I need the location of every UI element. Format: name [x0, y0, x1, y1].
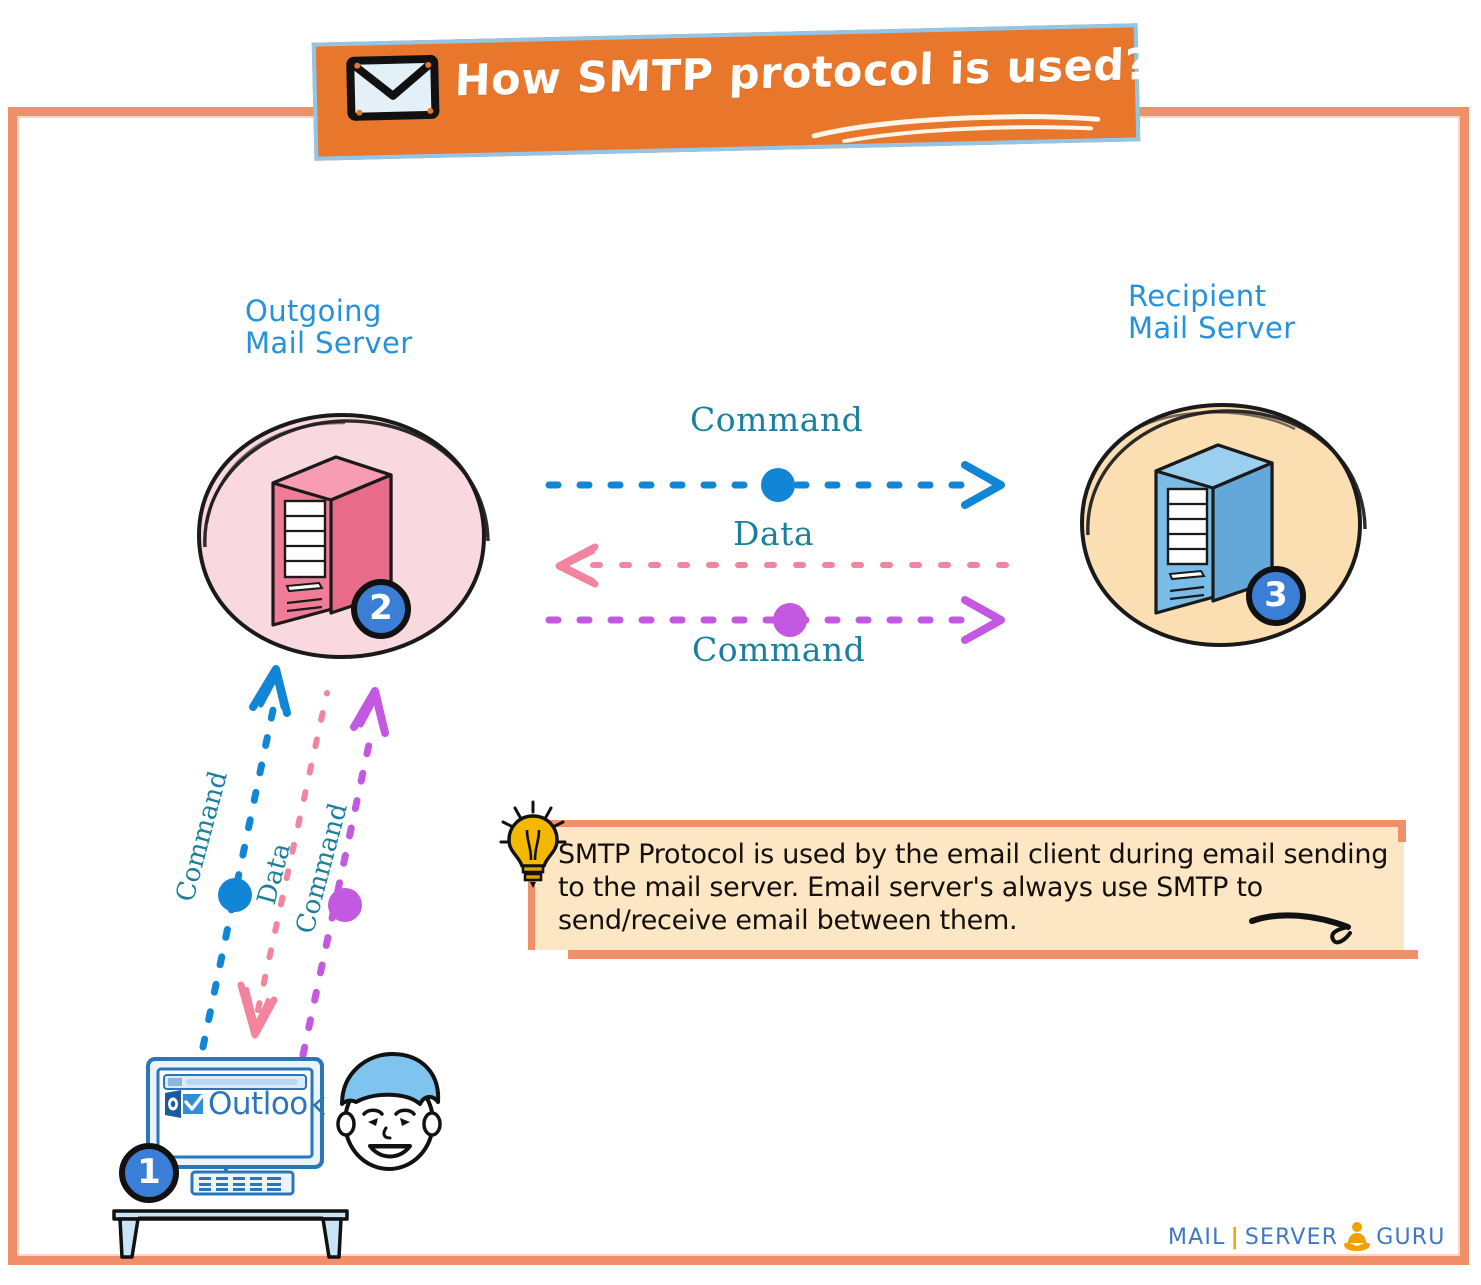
note-flourish-squiggle	[1248, 905, 1363, 947]
logo-text-guru: GURU	[1376, 1225, 1445, 1250]
step-badge-2-number: 2	[350, 578, 412, 640]
outlook-app-name: Outlook	[208, 1086, 325, 1122]
diagram-canvas: How SMTP protocol is used? Outgoing Mail…	[0, 0, 1481, 1285]
recipient-server-label: Recipient Mail Server	[1128, 280, 1428, 344]
step-badge-3: 3	[1245, 565, 1307, 627]
flow-label-command-out: Command	[690, 400, 863, 439]
outlook-logo-icon	[163, 1088, 205, 1120]
step-badge-3-number: 3	[1245, 565, 1307, 627]
outgoing-server-graphic	[185, 405, 495, 667]
flow-arrow-command-right-purple	[545, 590, 1015, 650]
page-title: How SMTP protocol is used?	[453, 25, 1095, 122]
title-banner: How SMTP protocol is used?	[303, 8, 1146, 176]
envelope-icon	[344, 51, 442, 123]
logo-text-server: SERVER	[1245, 1225, 1338, 1250]
recipient-server-graphic	[1070, 395, 1370, 653]
step-badge-1-number: 1	[118, 1142, 180, 1204]
step-badge-1: 1	[118, 1142, 180, 1204]
outgoing-server-label: Outgoing Mail Server	[245, 295, 545, 359]
flow-arrow-data-left-pink	[545, 535, 1015, 595]
logo-separator: |	[1231, 1225, 1240, 1250]
logo-text-mail: MAIL	[1168, 1225, 1226, 1250]
keyboard-icon	[190, 1170, 295, 1196]
note-box-bottom-bar	[568, 950, 1418, 959]
guru-meditating-icon	[1340, 1220, 1374, 1254]
step-badge-2: 2	[350, 578, 412, 640]
desk-graphic	[108, 1205, 353, 1263]
footer-logo: MAIL | SERVER GURU	[1168, 1218, 1418, 1256]
flow-arrow-command-right-blue	[545, 455, 1015, 515]
user-face-icon	[328, 1048, 450, 1176]
